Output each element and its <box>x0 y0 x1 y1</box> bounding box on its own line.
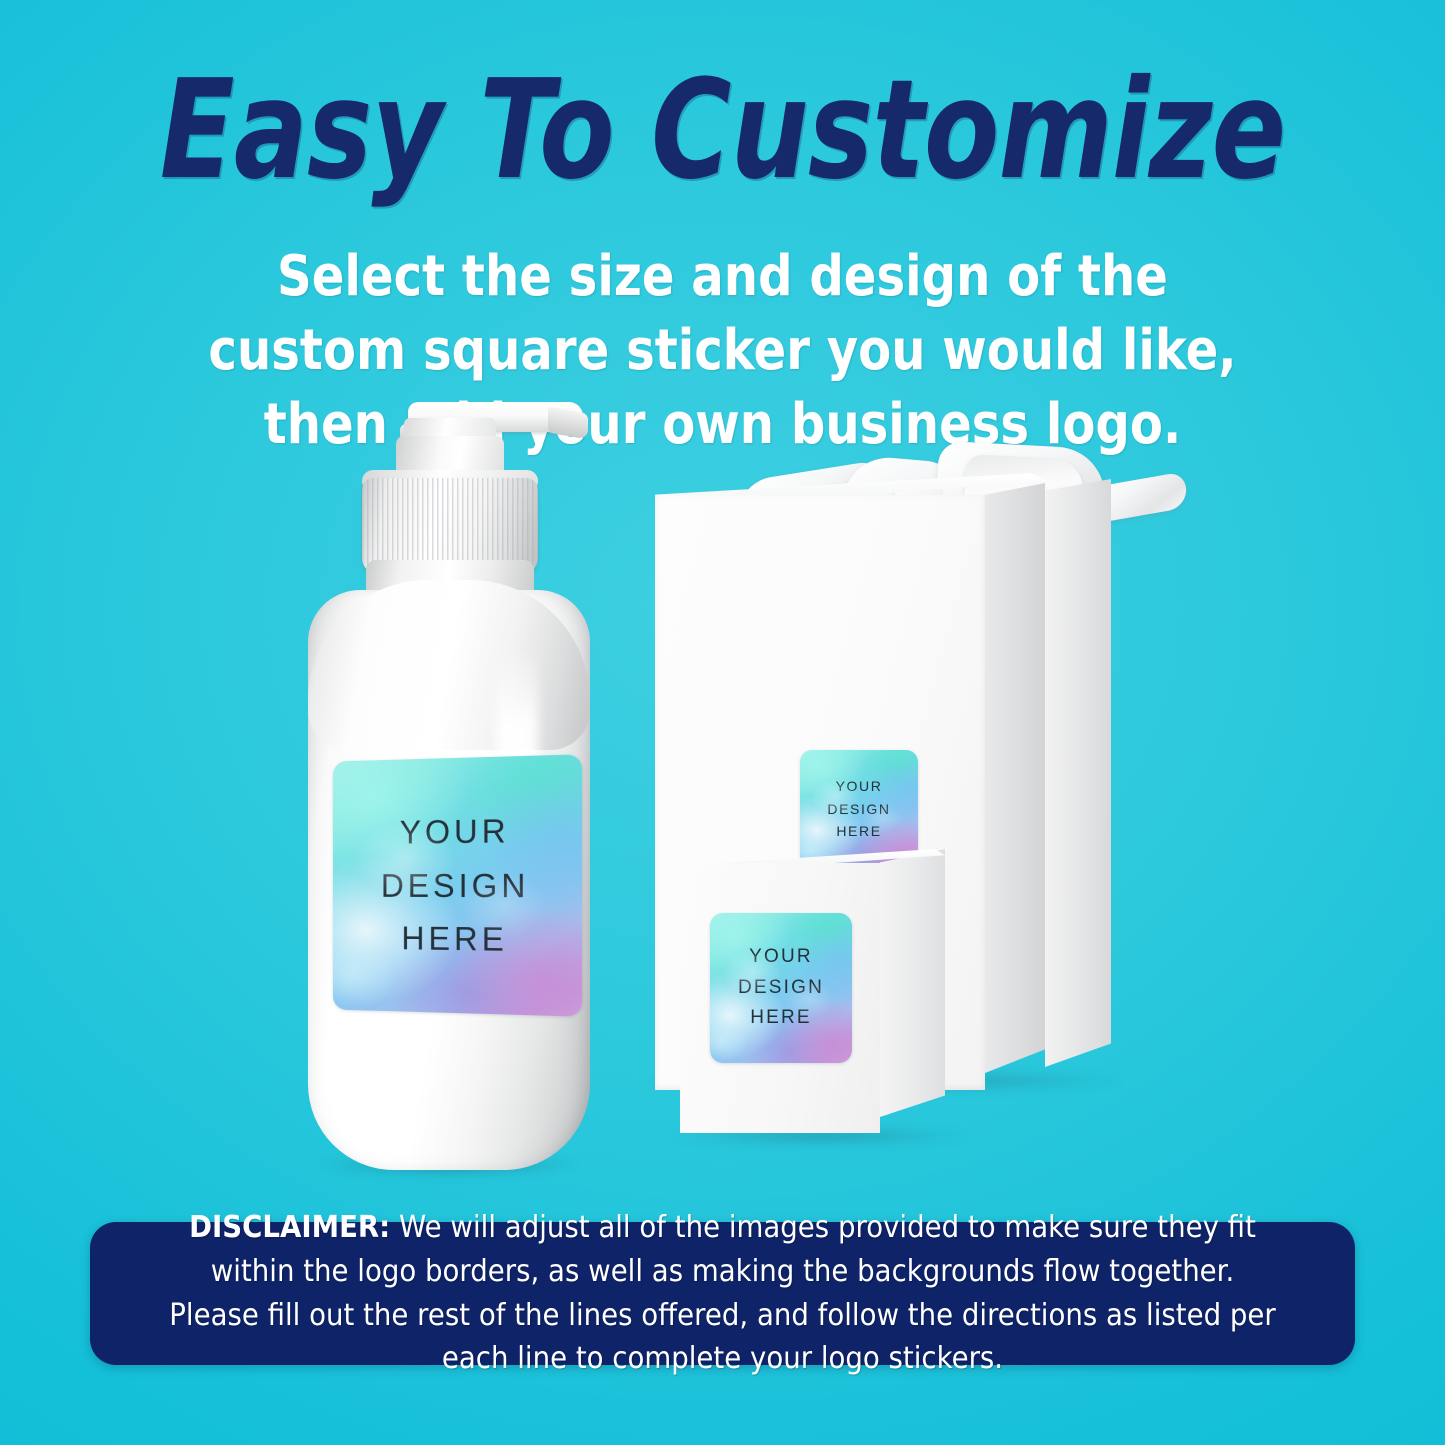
pump-bottle: YOUR DESIGN HERE <box>300 400 600 1190</box>
sticker-line-2: DESIGN <box>738 973 824 1004</box>
disclaimer-prefix: DISCLAIMER: <box>189 1210 390 1245</box>
sticker-line-3: HERE <box>401 912 507 967</box>
sticker-line-3: HERE <box>750 1003 812 1034</box>
sticker-line-1: YOUR <box>400 804 510 859</box>
disclaimer-text: DISCLAIMER: We will adjust all of the im… <box>141 1206 1305 1381</box>
sticker-line-2: DESIGN <box>381 858 530 912</box>
sticker-text-group: YOUR DESIGN HERE <box>710 913 852 1063</box>
promo-banner: Easy To Customize Select the size and de… <box>0 0 1445 1445</box>
small-box-side <box>880 849 945 1117</box>
sticker-text-group: YOUR DESIGN HERE <box>333 754 582 1016</box>
small-product-box: YOUR DESIGN HERE <box>680 845 950 1145</box>
gift-box-back-side <box>1045 479 1111 1067</box>
page-title: Easy To Customize <box>145 62 1301 199</box>
sticker-line-1: YOUR <box>749 942 813 973</box>
gift-box-side <box>985 483 1045 1073</box>
sticker-on-bottle-label: YOUR DESIGN HERE <box>333 754 582 1016</box>
disclaimer-banner: DISCLAIMER: We will adjust all of the im… <box>90 1222 1355 1365</box>
sticker-line-2: DESIGN <box>827 798 890 821</box>
product-scene: YOUR DESIGN HERE YOUR DESIGN HERE <box>0 390 1445 1190</box>
sticker-on-small-box: YOUR DESIGN HERE <box>710 913 852 1063</box>
sticker-line-1: YOUR <box>836 775 883 798</box>
sticker-line-3: HERE <box>836 820 881 843</box>
